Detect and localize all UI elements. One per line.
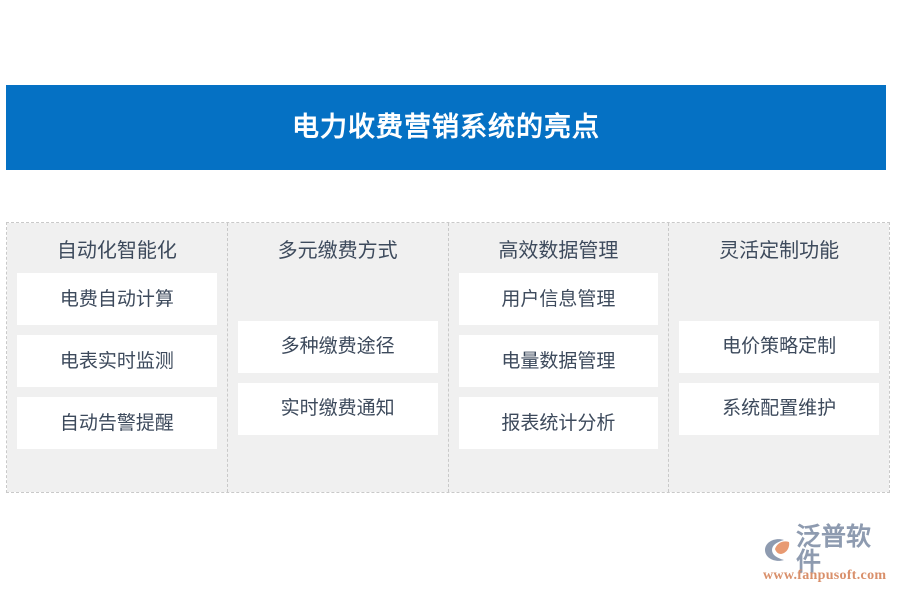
logo-row: 泛普软件 [762,534,890,566]
feature-item[interactable]: 电表实时监测 [17,335,217,387]
column-items-2: 多种缴费途径 实时缴费通知 [238,271,438,492]
feature-column-4: 灵活定制功能 电价策略定制 系统配置维护 [669,223,889,492]
feature-item[interactable]: 电费自动计算 [17,273,217,325]
feature-item[interactable]: 电量数据管理 [459,335,659,387]
slide-root: 电力收费营销系统的亮点 自动化智能化 电费自动计算 电表实时监测 自动告警提醒 … [0,0,900,600]
logo-url: www.fanpusoft.com [763,569,890,583]
column-header-1: 自动化智能化 [57,239,177,263]
page-title: 电力收费营销系统的亮点 [292,114,600,141]
feature-item[interactable]: 用户信息管理 [459,273,659,325]
feature-column-3: 高效数据管理 用户信息管理 电量数据管理 报表统计分析 [449,223,670,492]
feature-item[interactable]: 电价策略定制 [679,321,879,373]
feature-item[interactable]: 报表统计分析 [459,397,659,449]
feature-item[interactable]: 系统配置维护 [679,383,879,435]
column-items-1: 电费自动计算 电表实时监测 自动告警提醒 [17,271,217,492]
feature-item[interactable]: 实时缴费通知 [238,383,438,435]
feature-column-1: 自动化智能化 电费自动计算 电表实时监测 自动告警提醒 [7,223,228,492]
column-items-3: 用户信息管理 电量数据管理 报表统计分析 [459,271,659,492]
feature-item[interactable]: 自动告警提醒 [17,397,217,449]
column-header-3: 高效数据管理 [498,239,618,263]
title-banner: 电力收费营销系统的亮点 [6,85,886,170]
column-items-4: 电价策略定制 系统配置维护 [679,271,879,492]
feature-item[interactable]: 多种缴费途径 [238,321,438,373]
fanpu-logo-icon [762,536,792,564]
feature-columns-panel: 自动化智能化 电费自动计算 电表实时监测 自动告警提醒 多元缴费方式 多种缴费途… [6,222,890,493]
column-header-2: 多元缴费方式 [278,239,398,263]
column-header-4: 灵活定制功能 [719,239,839,263]
brand-logo: 泛普软件 www.fanpusoft.com [762,534,890,586]
feature-column-2: 多元缴费方式 多种缴费途径 实时缴费通知 [228,223,449,492]
